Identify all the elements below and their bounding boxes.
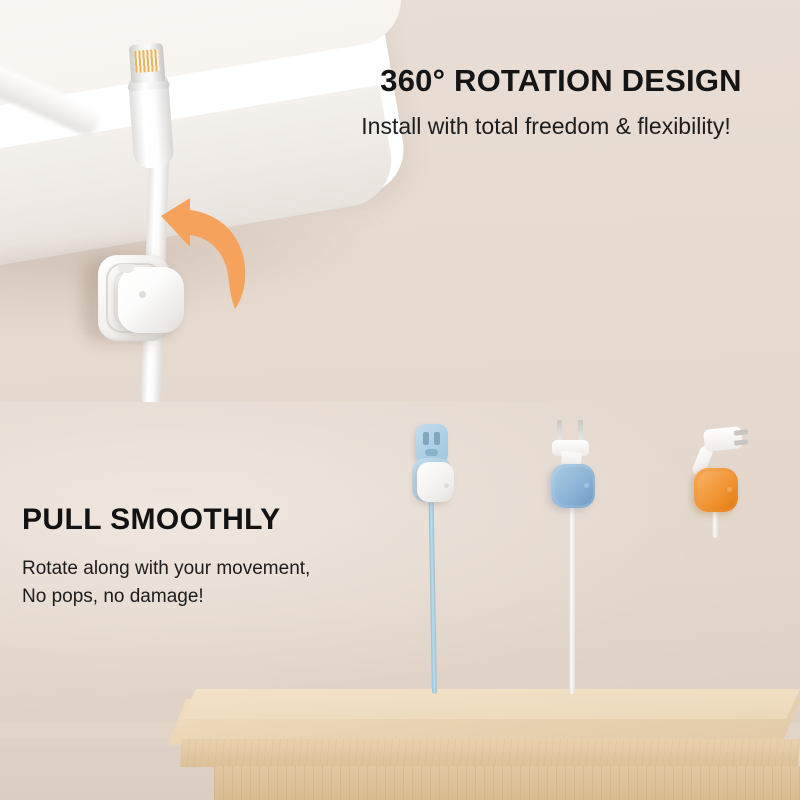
subtitle-bottom-line2: No pops, no damage! bbox=[22, 583, 204, 611]
wall-hook-2 bbox=[545, 420, 605, 720]
page-title-bottom: PULL SMOOTHLY bbox=[22, 503, 281, 537]
hook-1-head bbox=[417, 462, 454, 502]
subtitle-bottom-line1: Rotate along with your movement, bbox=[22, 555, 310, 583]
rotation-design-panel: 360° ROTATION DESIGN Install with total … bbox=[0, 0, 800, 402]
wall-hook-3 bbox=[690, 416, 760, 716]
page-title-top: 360° ROTATION DESIGN bbox=[330, 64, 792, 98]
pull-smoothly-panel: De'Longhi bbox=[0, 402, 800, 800]
product-image-canvas: 360° ROTATION DESIGN Install with total … bbox=[0, 0, 800, 800]
subtitle-top: Install with total freedom & flexibility… bbox=[300, 112, 792, 141]
rotation-arrow-icon bbox=[128, 196, 254, 316]
lightning-connector-icon bbox=[120, 42, 178, 167]
wall-hook-1 bbox=[410, 422, 460, 722]
